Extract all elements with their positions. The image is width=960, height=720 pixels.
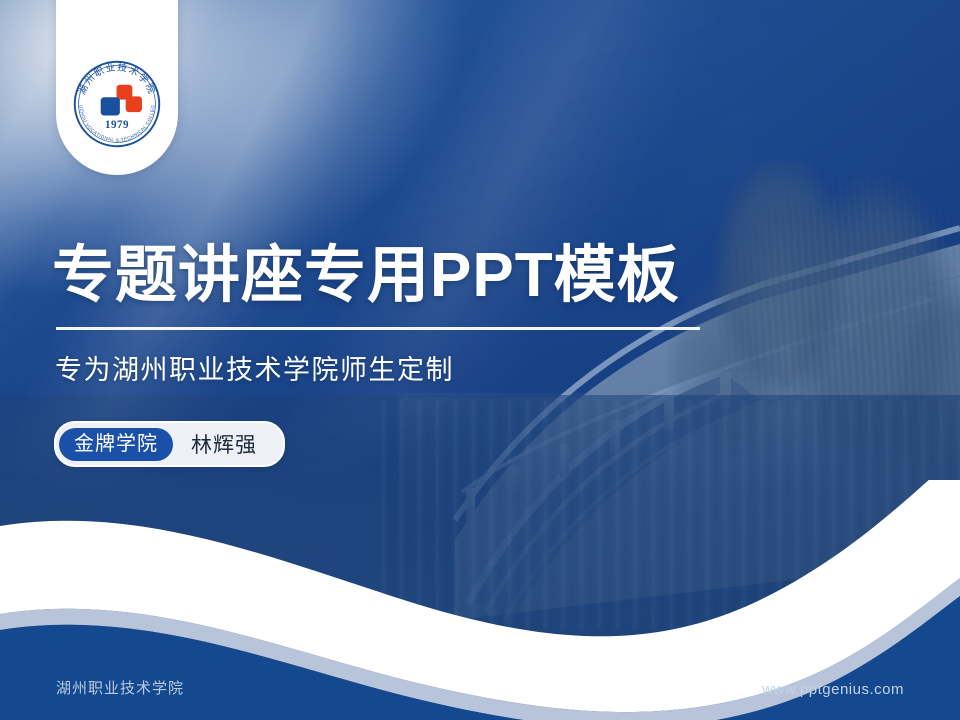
- footer-website-url[interactable]: www.pptgenius.com: [762, 681, 904, 698]
- title-divider-rule: [56, 327, 700, 330]
- logo-panel: 湖州职业技术学院 HUZHOU VOCATIONAL & TECHNICAL C…: [56, 0, 178, 175]
- footer-institution-name: 湖州职业技术学院: [56, 677, 184, 698]
- college-seal-icon: 湖州职业技术学院 HUZHOU VOCATIONAL & TECHNICAL C…: [69, 56, 165, 152]
- seal-founding-year: 1979: [105, 119, 129, 131]
- presentation-title-slide: 湖州职业技术学院 HUZHOU VOCATIONAL & TECHNICAL C…: [0, 0, 960, 720]
- slide-title: 专题讲座专用PPT模板: [52, 243, 680, 308]
- slide-subtitle: 专为湖州职业技术学院师生定制: [55, 348, 454, 387]
- badge-speaker-name: 林辉强: [173, 429, 279, 459]
- speaker-badge: 金牌学院 林辉强: [54, 421, 285, 467]
- badge-tag-label: 金牌学院: [59, 428, 173, 461]
